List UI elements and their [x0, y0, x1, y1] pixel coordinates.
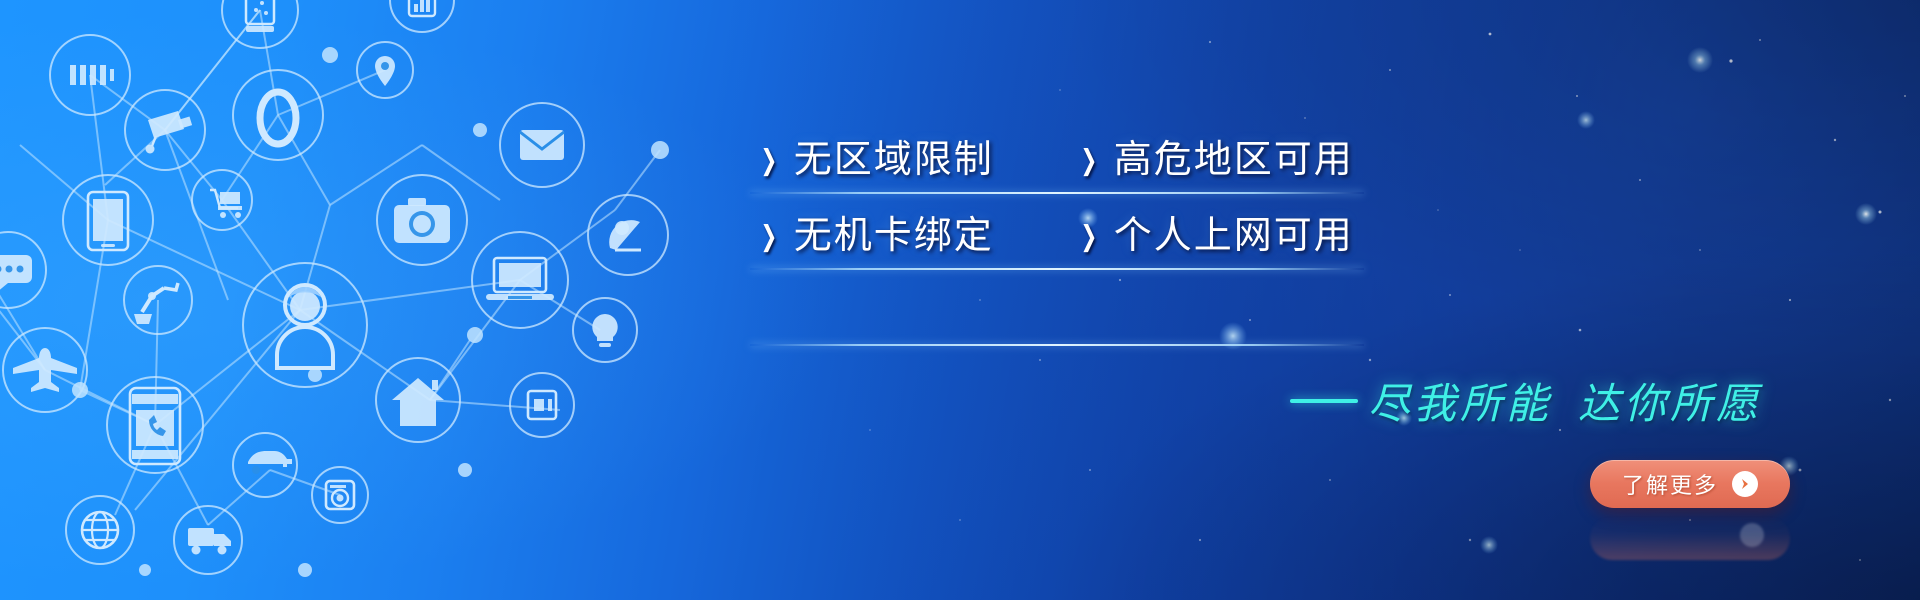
chevron-right-icon: ❯: [760, 146, 777, 174]
divider-line-bottom: [750, 344, 1364, 346]
arrow-right-circle-icon: [1732, 471, 1758, 497]
tagline-part-1: 尽我所能: [1368, 370, 1552, 431]
learn-more-label: 了解更多: [1622, 468, 1718, 500]
feature-item-no-sim-binding[interactable]: ❯ 无机卡绑定: [750, 198, 1070, 274]
feature-label: 高危地区可用: [1114, 141, 1354, 179]
feature-label: 个人上网可用: [1114, 217, 1354, 255]
cta-container: 了解更多: [1590, 460, 1810, 508]
tagline-part-2: 达你所愿: [1578, 370, 1762, 431]
feature-item-personal-internet[interactable]: ❯ 个人上网可用: [1070, 198, 1390, 274]
feature-item-high-risk-area[interactable]: ❯ 高危地区可用: [1070, 122, 1390, 198]
chevron-right-icon: ❯: [1080, 222, 1097, 250]
car-key-icon: [233, 433, 297, 497]
promo-banner: ❯ 无区域限制 ❯ 高危地区可用 ❯ 无机卡绑定 ❯ 个人上网可用 尽我所能 达…: [0, 0, 1920, 600]
learn-more-button[interactable]: 了解更多: [1590, 460, 1790, 508]
feature-item-no-region-limit[interactable]: ❯ 无区域限制: [750, 122, 1070, 198]
tagline-dash: [1290, 399, 1358, 403]
feature-label: 无区域限制: [794, 141, 994, 179]
tagline: 尽我所能 达你所愿: [1290, 370, 1762, 431]
feature-list: ❯ 无区域限制 ❯ 高危地区可用 ❯ 无机卡绑定 ❯ 个人上网可用: [750, 122, 1390, 274]
iot-network-graphic: [0, 0, 680, 600]
feature-label: 无机卡绑定: [794, 217, 994, 255]
chevron-right-icon: ❯: [1080, 146, 1097, 174]
chevron-right-icon: ❯: [760, 222, 777, 250]
